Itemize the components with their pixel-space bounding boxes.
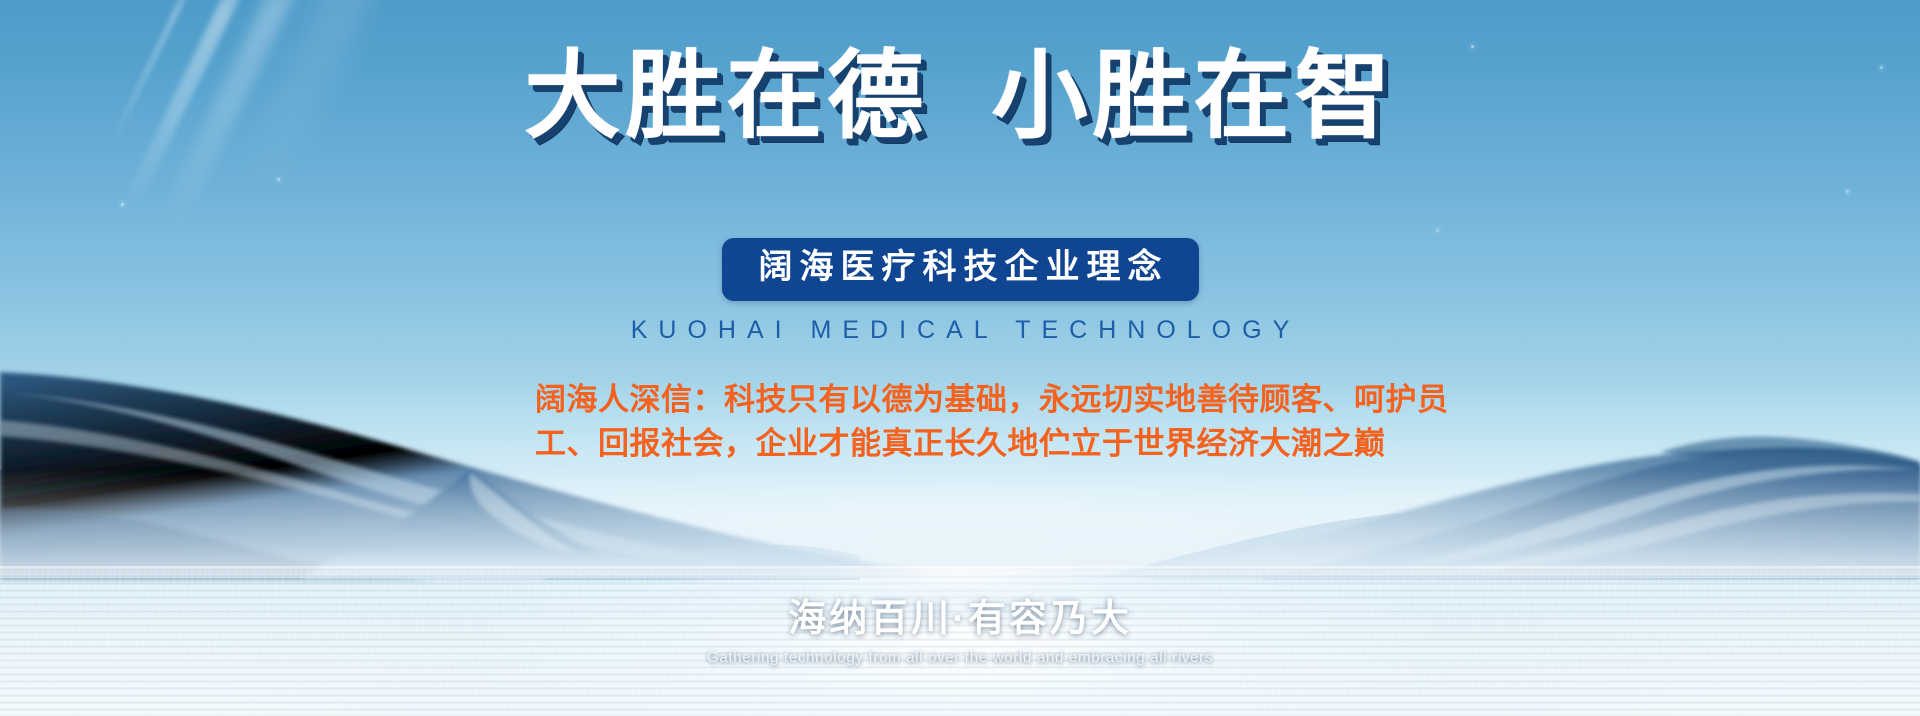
statement-line-2: 工、回报社会，企业才能真正长久地伫立于世界经济大潮之巅 — [535, 422, 1385, 467]
page-title: 大胜在德 小胜在智 — [524, 46, 1395, 148]
philosophy-statement: 阔海人深信：科技只有以德为基础，永远切实地善待顾客、呵护员 工、回报社会，企业才… — [535, 378, 1385, 468]
status-badge: 阔海医疗科技企业理念 — [722, 238, 1199, 300]
statement-line-1: 阔海人深信：科技只有以德为基础，永远切实地善待顾客、呵护员 — [535, 378, 1385, 423]
kuohai-hero-banner: 大胜在德 小胜在智 阔海医疗科技企业理念 KUOHAI MEDICAL TECH… — [0, 0, 1920, 716]
subtitle-romanised: KUOHAI MEDICAL TECHNOLOGY — [620, 316, 1301, 345]
banner-content: 大胜在德 小胜在智 阔海医疗科技企业理念 KUOHAI MEDICAL TECH… — [0, 0, 1920, 716]
